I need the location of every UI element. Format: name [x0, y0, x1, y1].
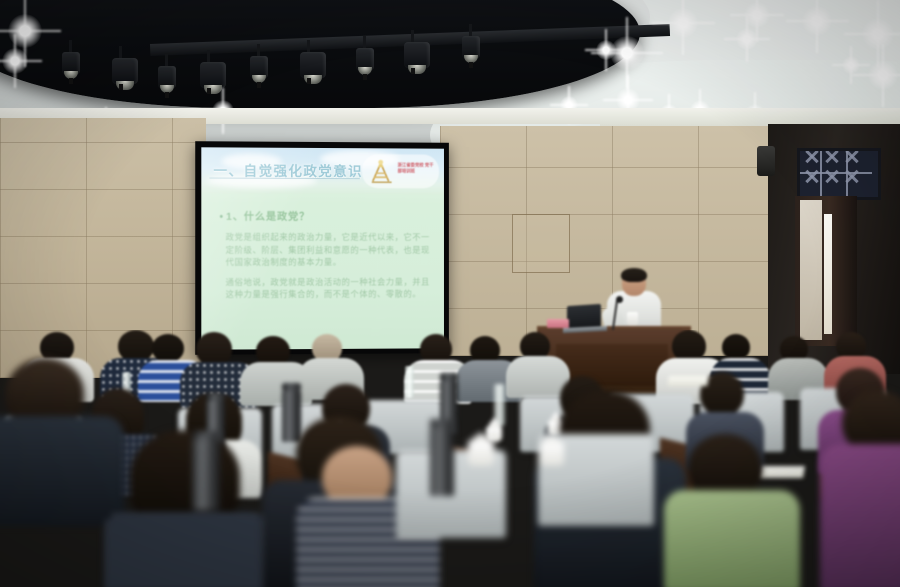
doorway-light-slit [824, 214, 832, 334]
lattice-screen-icon [797, 148, 881, 200]
slide-heading: •1、什么是政党？ [220, 208, 431, 223]
projection-screen: 一、自觉强化政党意识 浙江省委党校 党干部培训班 •1、什么是政党？ 政党是组织… [201, 147, 444, 349]
podium-cup [627, 312, 638, 326]
wall-loudspeaker-icon [757, 146, 775, 176]
slide-badge: 浙江省委党校 党干部培训班 [362, 154, 439, 188]
slide-bullet-marker: • [220, 212, 225, 223]
deck-chair-icon [368, 157, 396, 185]
thermos-flask [282, 390, 301, 442]
projection-screen-frame: 一、自觉强化政党意识 浙江省委党校 党干部培训班 •1、什么是政党？ 政党是组织… [195, 141, 449, 355]
doorway-light [800, 200, 822, 340]
thermos-flask [192, 438, 220, 510]
water-bottle [405, 366, 414, 398]
photo-canvas: 一、自觉强化政党意识 浙江省委党校 党干部培训班 •1、什么是政党？ 政党是组织… [0, 0, 900, 587]
slide-badge-text: 浙江省委党校 党干部培训班 [398, 162, 438, 174]
thermos-flask [430, 426, 454, 496]
presenter-hair [621, 268, 647, 282]
paper-sheet [667, 376, 709, 386]
slide-body: •1、什么是政党？ 政党是组织起来的政治力量，它是近代以来，它不一定阶级、阶层、… [220, 208, 431, 308]
podium-pink-folder [547, 319, 569, 328]
lidded-teacup [540, 442, 564, 466]
slide-heading-text: 1、什么是政党？ [226, 212, 310, 223]
paper-sheet [759, 466, 805, 478]
lidded-teacup [468, 440, 494, 466]
water-bottle [494, 384, 505, 426]
microphone-icon [616, 296, 623, 303]
slide-bullet: 政党是组织起来的政治力量，它是近代以来，它不一定阶级、阶层、集团利益和意愿的一种… [226, 231, 431, 269]
slide-bullet: 通俗地说，政党就是政治活动的一种社会力量，并且这种力量是强行集合的，而不是个体的… [226, 275, 431, 300]
audience-seating [0, 330, 900, 587]
wall-panel-inset [512, 214, 570, 273]
